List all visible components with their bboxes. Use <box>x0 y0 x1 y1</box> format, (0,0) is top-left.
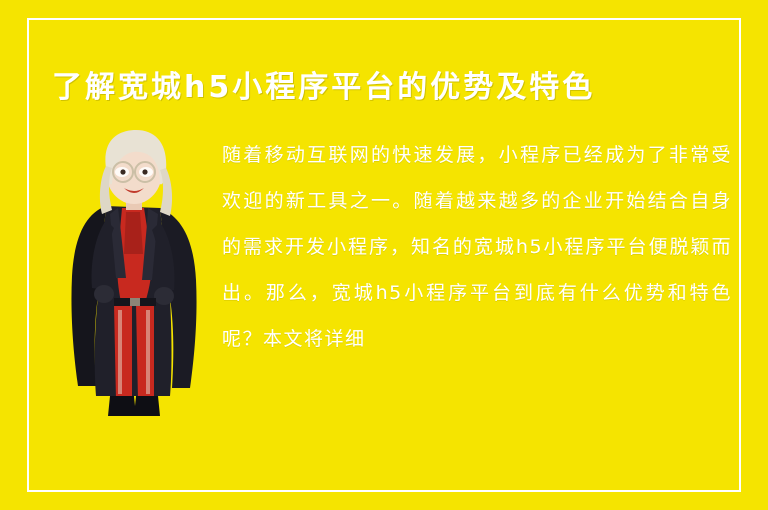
page-title: 了解宽城h5小程序平台的优势及特色 <box>52 62 722 106</box>
belt-shape <box>114 298 156 306</box>
poster-canvas: 了解宽城h5小程序平台的优势及特色 <box>0 0 768 510</box>
article-body: 随着移动互联网的快速发展，小程序已经成为了非常受欢迎的新工具之一。随着越来越多的… <box>222 132 732 362</box>
character-illustration <box>48 128 218 438</box>
shoes-shape <box>108 396 160 416</box>
